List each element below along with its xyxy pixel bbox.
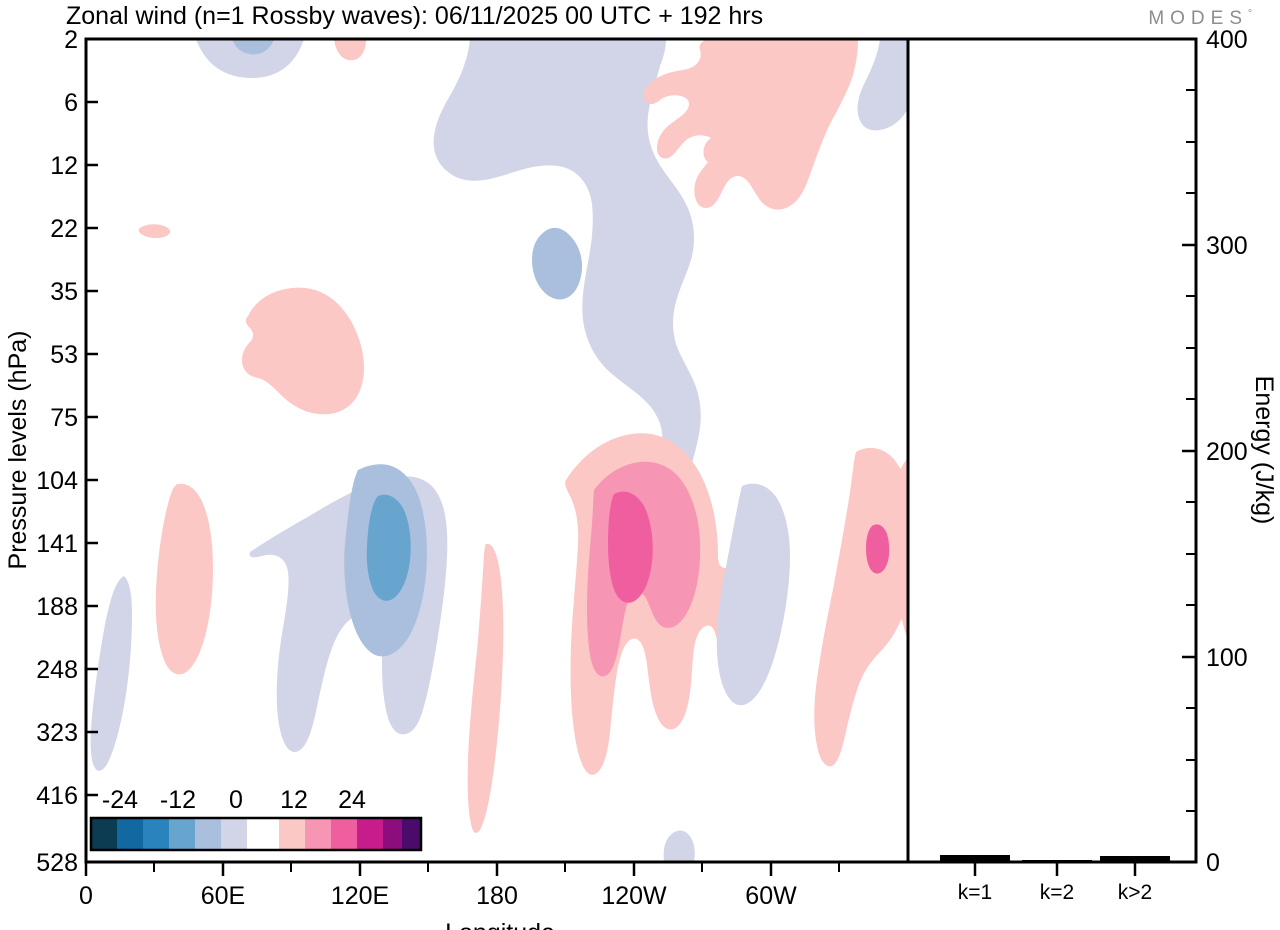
- contour-field: [86, 38, 915, 862]
- k-bar-1: [940, 855, 1010, 862]
- left-tick-label: 22: [50, 215, 78, 243]
- bottom-axis: 0 60E 120E 180 120W 60W Longitude: [79, 862, 839, 930]
- bottom-tick-label: 60W: [745, 882, 797, 910]
- k-tick-label-3: k>2: [1118, 881, 1152, 904]
- colorbar-swatch: [357, 818, 383, 850]
- right-tick-label: 300: [1206, 232, 1248, 260]
- colorbar-swatch: [91, 818, 117, 850]
- left-tick-label: 104: [36, 467, 78, 495]
- colorbar-swatch: [383, 818, 402, 850]
- colorbar-tick-label: 0: [229, 786, 243, 814]
- colorbar-tick-label: 24: [338, 786, 366, 814]
- k-bar-2: [1022, 860, 1092, 862]
- colorbar-swatch: [331, 818, 357, 850]
- left-tick-label: 141: [36, 530, 78, 558]
- left-tick-label: 75: [50, 404, 78, 432]
- colorbar-tick-label: 12: [280, 786, 308, 814]
- colorbar-swatch: [117, 818, 143, 850]
- left-tick-label: 12: [50, 152, 78, 180]
- bottom-tick-label: 120W: [601, 882, 667, 910]
- left-tick-label: 323: [36, 719, 78, 747]
- bottom-tick-label: 120E: [331, 882, 389, 910]
- left-tick-label: 6: [64, 89, 78, 117]
- bottom-tick-label: 60E: [201, 882, 245, 910]
- bottom-axis-title: Longitude: [445, 919, 555, 930]
- k-tick-label-2: k=2: [1040, 881, 1074, 904]
- right-tick-label: 0: [1206, 849, 1220, 877]
- colorbar-swatch: [279, 818, 305, 850]
- left-tick-label: 416: [36, 782, 78, 810]
- colorbar-swatch: [247, 818, 279, 850]
- plot-svg: 2 6 12 22 35 53 75 104 141 188 248 323 4…: [0, 0, 1280, 930]
- left-tick-label: 2: [64, 26, 78, 54]
- right-tick-label: 400: [1206, 26, 1248, 54]
- left-tick-label: 188: [36, 593, 78, 621]
- colorbar-swatches: [91, 818, 421, 850]
- left-axis: 2 6 12 22 35 53 75 104 141 188 248 323 4…: [4, 26, 98, 877]
- bottom-tick-label: 0: [79, 882, 93, 910]
- colorbar-swatch: [305, 818, 331, 850]
- colorbar-tick-label: -12: [160, 786, 196, 814]
- right-axis-title: Energy (J/kg): [1250, 376, 1278, 525]
- left-tick-label: 248: [36, 656, 78, 684]
- colorbar-tick-label: -24: [102, 786, 138, 814]
- left-tick-label: 35: [50, 278, 78, 306]
- right-tick-label: 200: [1206, 438, 1248, 466]
- k-tick-label-1: k=1: [958, 881, 992, 904]
- k-bar-3: [1100, 856, 1170, 862]
- bottom-tick-label: 180: [476, 882, 518, 910]
- left-tick-label: 528: [36, 849, 78, 877]
- colorbar-swatch: [221, 818, 247, 850]
- right-tick-label: 100: [1206, 644, 1248, 672]
- colorbar-swatch: [402, 818, 421, 850]
- left-tick-label: 53: [50, 341, 78, 369]
- colorbar-swatch: [195, 818, 221, 850]
- figure-root: Zonal wind (n=1 Rossby waves): 06/11/202…: [0, 0, 1280, 930]
- contour-atlantic-pink-core: [866, 524, 889, 573]
- colorbar-swatch: [169, 818, 195, 850]
- colorbar-swatch: [143, 818, 169, 850]
- left-axis-title: Pressure levels (hPa): [4, 331, 32, 570]
